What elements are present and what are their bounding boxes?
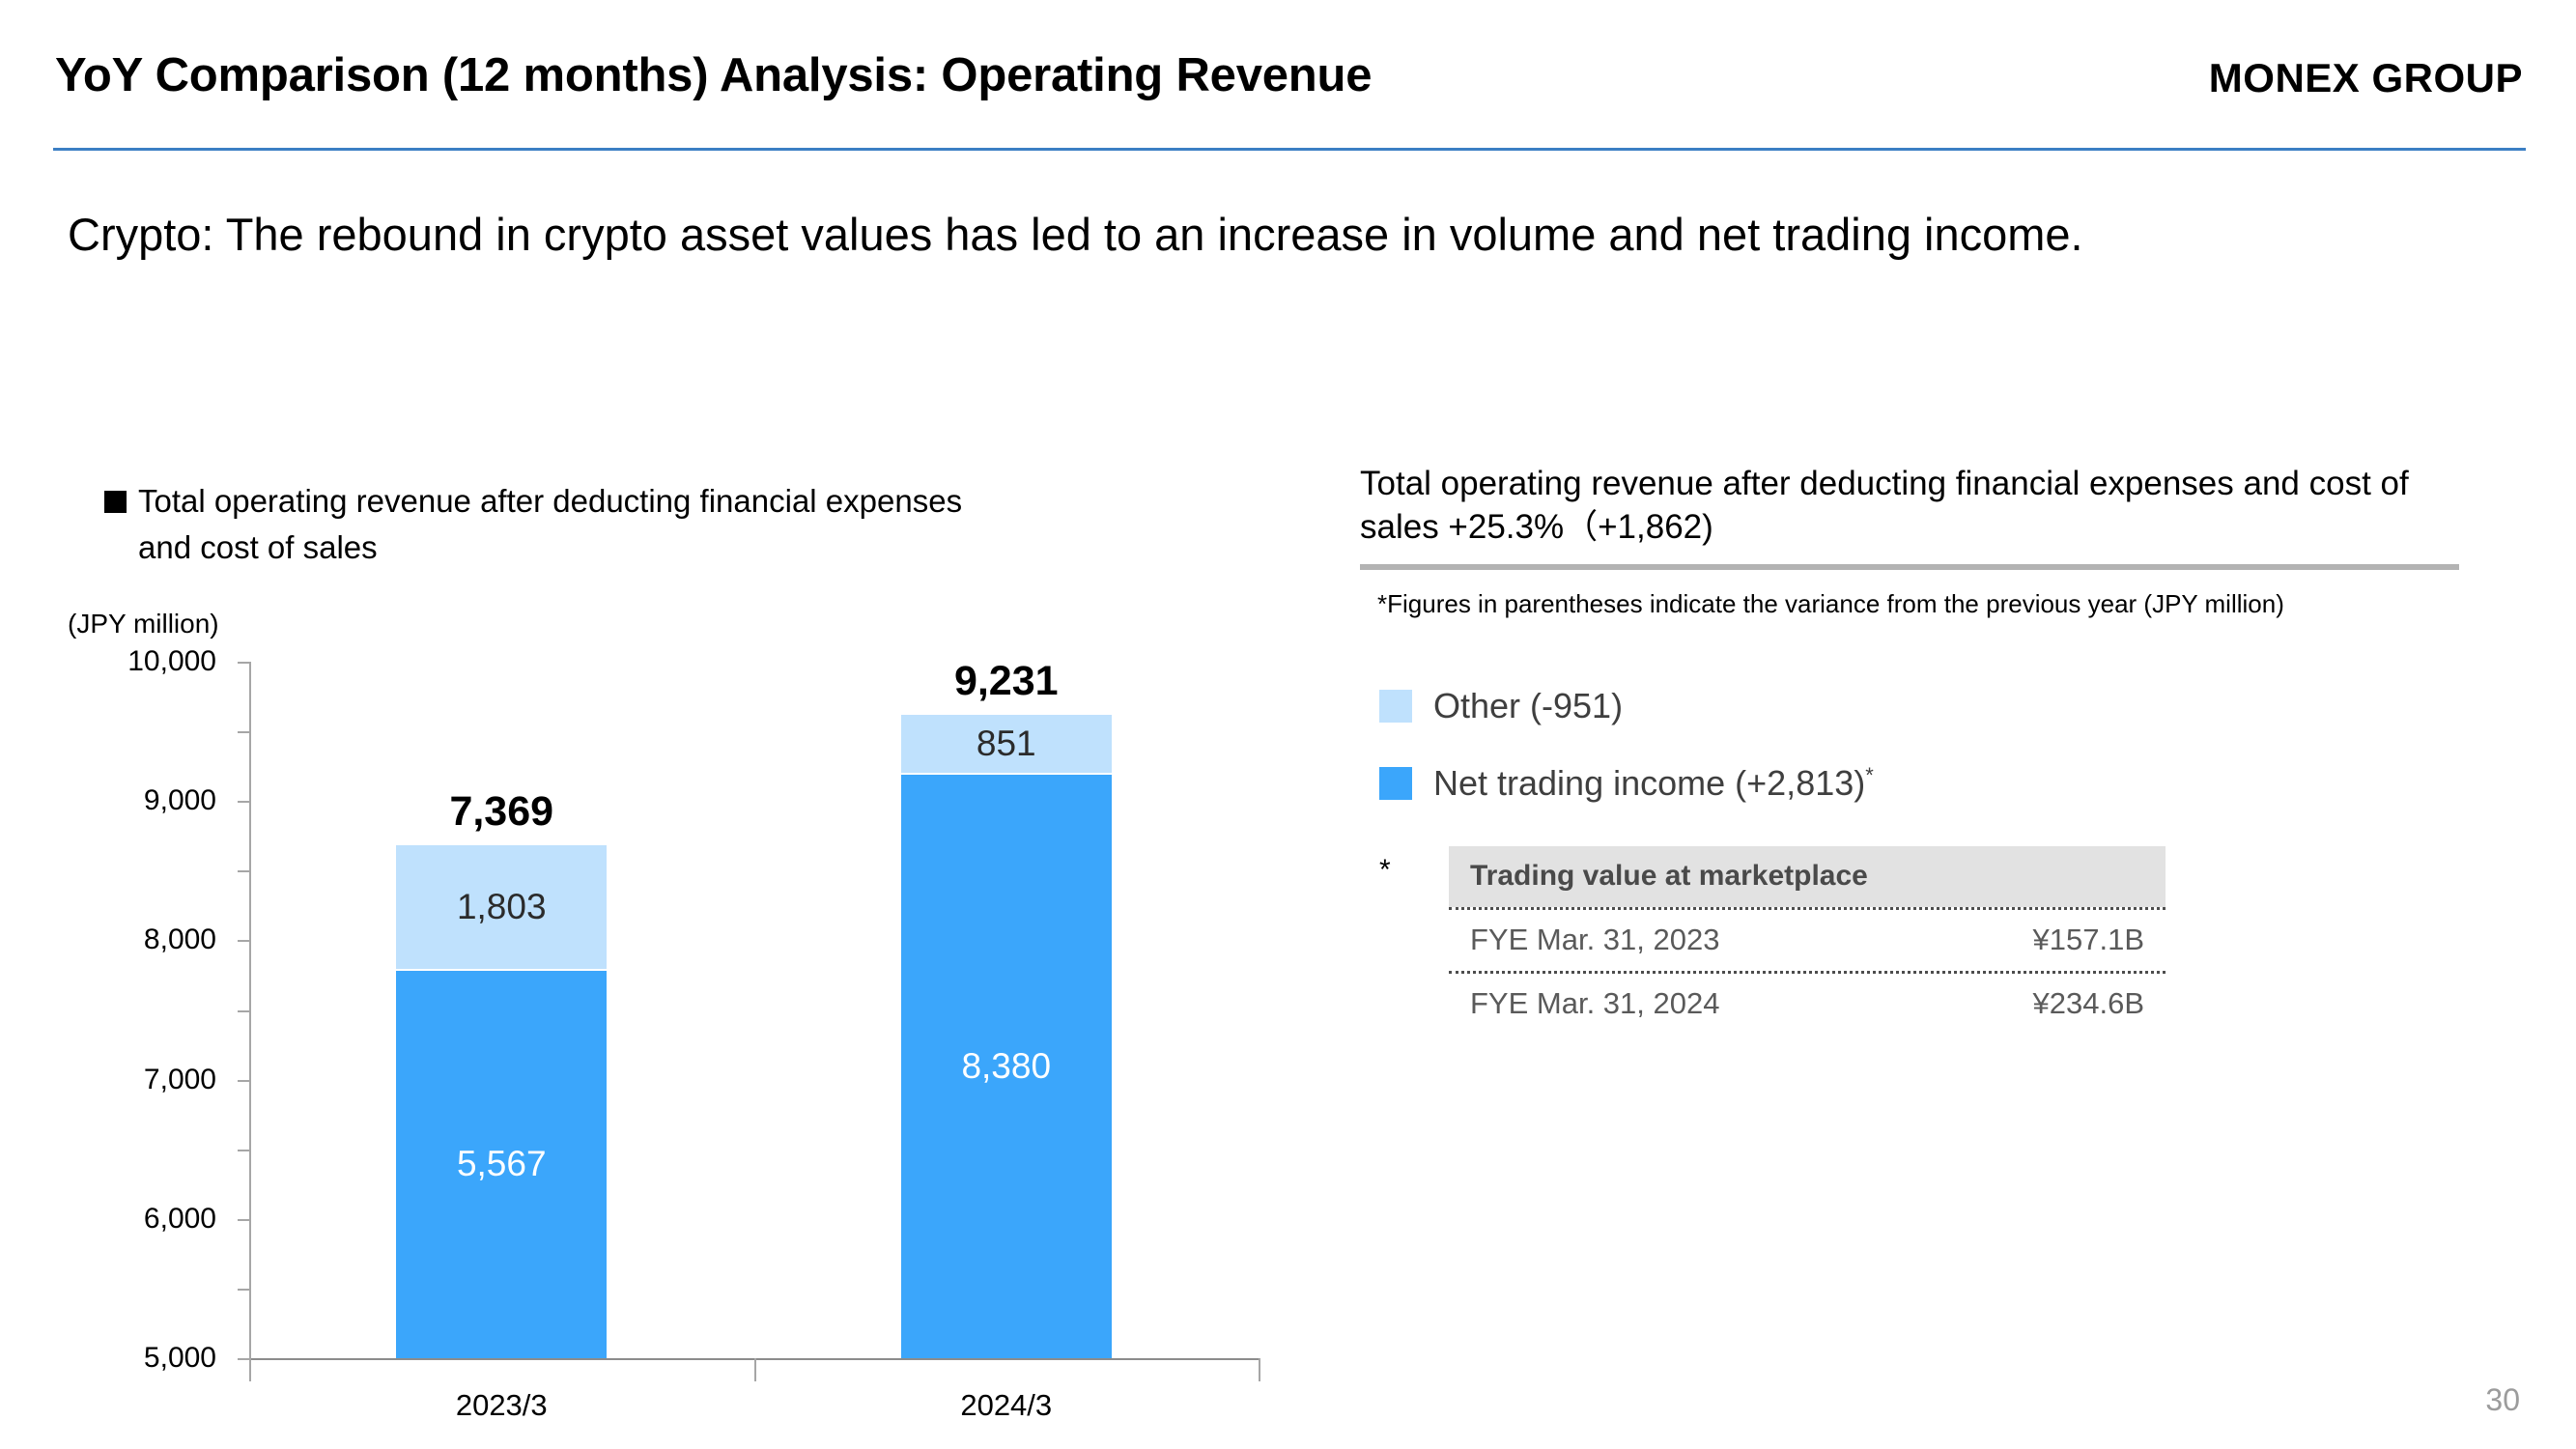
legend-swatch-icon xyxy=(1379,767,1412,800)
bar-segment-other[interactable]: 1,803 xyxy=(396,845,607,971)
legend-item[interactable]: Other (-951) xyxy=(1379,684,2480,728)
chart-legend-title: Total operating revenue after deducting … xyxy=(104,478,1186,571)
x-tick-label: 2023/3 xyxy=(456,1388,548,1423)
page-number: 30 xyxy=(2485,1382,2520,1418)
bar-total-label: 7,369 xyxy=(396,788,607,836)
header-divider xyxy=(53,148,2526,151)
x-tick-label: 2024/3 xyxy=(960,1388,1052,1423)
bar-total-label: 9,231 xyxy=(901,658,1112,705)
chart-legend: Other (-951)Net trading income (+2,813)* xyxy=(1379,684,2480,806)
y-tick-mark: 4,000 xyxy=(238,1080,250,1082)
y-tick-mark: 10,000 xyxy=(238,662,250,664)
table-cell-label: FYE Mar. 31, 2024 xyxy=(1470,986,1719,1021)
bar-stack[interactable]: 1,8035,5677,369 xyxy=(396,845,607,1358)
y-tick-label: 6,000 xyxy=(144,1203,216,1236)
table-cell-value: ¥157.1B xyxy=(2033,923,2145,957)
bar-segment-net-trading-income[interactable]: 8,380 xyxy=(901,775,1112,1358)
chart-panel: Total operating revenue after deducting … xyxy=(0,464,1294,1439)
slide: YoY Comparison (12 months) Analysis: Ope… xyxy=(0,0,2576,1449)
marketplace-table-header: Trading value at marketplace xyxy=(1449,846,2166,907)
y-tick-label: 10,000 xyxy=(127,645,216,678)
table-cell-label: FYE Mar. 31, 2023 xyxy=(1470,923,1719,957)
x-tick-mark xyxy=(249,1358,251,1381)
plot-area: 10,0009,0008,0007,0006,0005,0004,0003,00… xyxy=(249,662,1259,1360)
bar-stack[interactable]: 8518,3809,231 xyxy=(901,715,1112,1358)
table-row: FYE Mar. 31, 2024¥234.6B xyxy=(1449,974,2166,1035)
y-axis-unit-label: (JPY million) xyxy=(68,609,219,639)
y-tick-mark: 3,000 xyxy=(238,1150,250,1151)
y-tick-label: 9,000 xyxy=(144,784,216,817)
y-tick-mark: 5,000 xyxy=(238,1010,250,1012)
y-tick-mark: 8,000 xyxy=(238,801,250,803)
summary-panel: Total operating revenue after deducting … xyxy=(1360,462,2480,846)
summary-divider xyxy=(1360,564,2459,570)
y-tick-label: 8,000 xyxy=(144,923,216,956)
x-tick-mark xyxy=(1259,1358,1260,1381)
page-title: YoY Comparison (12 months) Analysis: Ope… xyxy=(55,48,1372,102)
table-row: FYE Mar. 31, 2023¥157.1B xyxy=(1449,910,2166,971)
black-square-bullet-icon xyxy=(104,491,127,513)
y-tick-mark: 9,000 xyxy=(238,731,250,733)
subtitle-text: Crypto: The rebound in crypto asset valu… xyxy=(68,208,2083,261)
bar-segment-net-trading-income[interactable]: 5,567 xyxy=(396,971,607,1358)
chart-legend-title-line1: Total operating revenue after deducting … xyxy=(138,483,962,519)
monex-group-logo: MONEX GROUP xyxy=(2209,55,2523,101)
table-cell-value: ¥234.6B xyxy=(2033,986,2145,1021)
summary-heading: Total operating revenue after deducting … xyxy=(1360,462,2461,549)
bar-segment-other[interactable]: 851 xyxy=(901,715,1112,774)
y-tick-mark: 7,000 xyxy=(238,870,250,872)
x-tick-mark xyxy=(754,1358,756,1381)
legend-label: Net trading income (+2,813)* xyxy=(1433,763,1874,804)
legend-swatch-icon xyxy=(1379,690,1412,723)
marketplace-table-body: FYE Mar. 31, 2023¥157.1BFYE Mar. 31, 202… xyxy=(1449,907,2166,1035)
y-tick-label: 7,000 xyxy=(144,1064,216,1096)
legend-item[interactable]: Net trading income (+2,813)* xyxy=(1379,761,2480,806)
marketplace-table: Trading value at marketplace FYE Mar. 31… xyxy=(1449,846,2166,1035)
summary-footnote: *Figures in parentheses indicate the var… xyxy=(1377,589,2480,619)
y-tick-mark: 2,000 xyxy=(238,1219,250,1221)
chart-legend-title-line2: and cost of sales xyxy=(104,525,1186,571)
legend-label: Other (-951) xyxy=(1433,686,1623,726)
legend-footnote-marker: * xyxy=(1865,763,1874,787)
marketplace-asterisk: * xyxy=(1379,854,1391,887)
y-tick-mark: 6,000 xyxy=(238,940,250,942)
y-tick-mark: 1,000 xyxy=(238,1289,250,1291)
y-tick-label: 5,000 xyxy=(144,1342,216,1375)
